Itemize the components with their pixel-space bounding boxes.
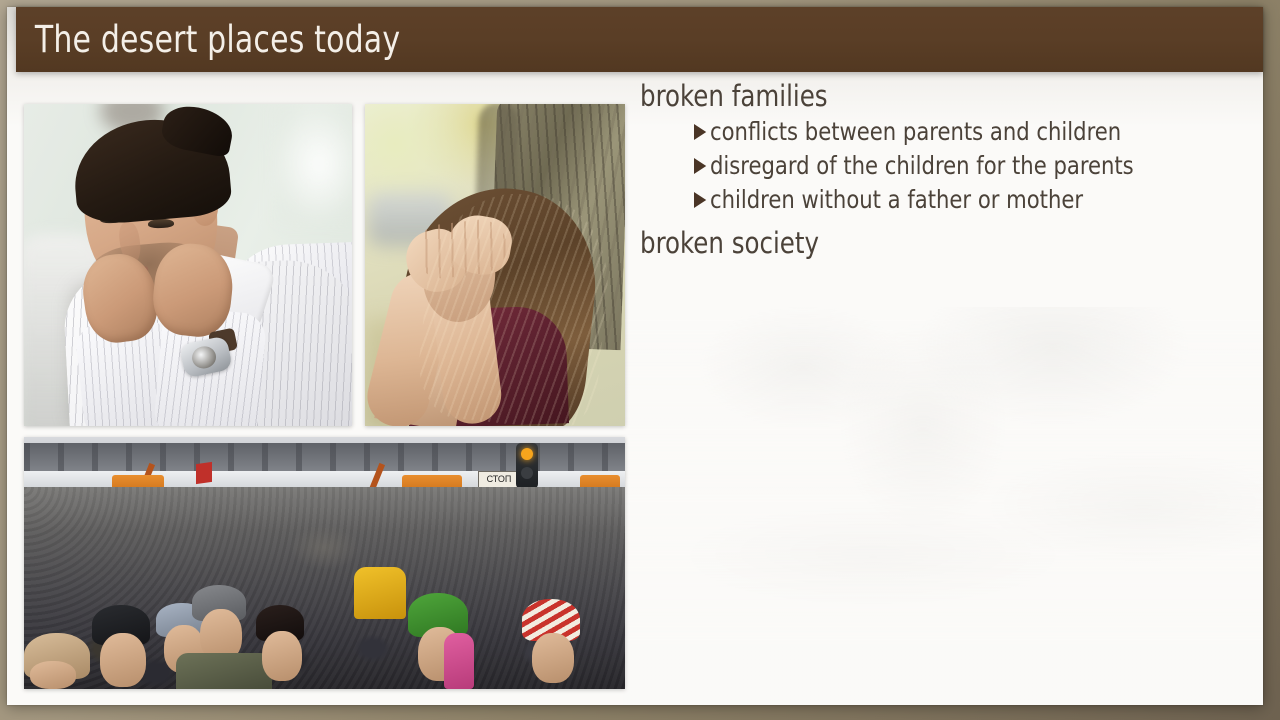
photo-distressed-woman [365, 104, 625, 426]
photo-winter-crowd: СТОП [24, 437, 625, 689]
slide-title-bar: The desert places today [16, 7, 1263, 72]
photo-crowd-red-flag [196, 462, 212, 484]
photo-crowd-coat-olive [176, 653, 272, 689]
triangle-bullet-icon [694, 124, 706, 140]
body-heading-broken-families: broken families [640, 80, 1204, 113]
photo-crowd-pink-strap [444, 633, 474, 689]
bullet-text: disregard of the children for the parent… [710, 151, 1134, 181]
triangle-bullet-icon [694, 192, 706, 208]
photo-crowd-face-g [30, 661, 76, 689]
photo-crowd-yellow-jacket [354, 567, 406, 619]
bullet-conflicts-parents-children: conflicts between parents and children [694, 117, 1207, 147]
slide-frame: The desert places today [0, 0, 1280, 720]
photo-crowd-face-d [262, 631, 302, 681]
photo-collage: СТОП [24, 104, 625, 689]
bullet-text: conflicts between parents and children [710, 117, 1121, 147]
photo-crowd-traffic-light [516, 443, 538, 489]
bullet-text: children without a father or mother [710, 185, 1083, 215]
triangle-bullet-icon [694, 158, 706, 174]
bullet-children-without-parent: children without a father or mother [694, 185, 1207, 215]
photo-man-bg-light [274, 104, 352, 224]
slide-content: СТОП [0, 72, 1256, 698]
bullet-disregard-children-parents: disregard of the children for the parent… [694, 151, 1207, 181]
slide-title: The desert places today [16, 18, 400, 61]
photo-crowd-face-f [532, 633, 574, 683]
photo-pensive-man [24, 104, 352, 426]
body-heading-broken-society: broken society [640, 227, 1204, 260]
photo-crowd-stop-sign: СТОП [478, 471, 520, 488]
photo-crowd-face-a [100, 633, 146, 687]
body-text-column: broken families conflicts between parent… [640, 80, 1240, 265]
